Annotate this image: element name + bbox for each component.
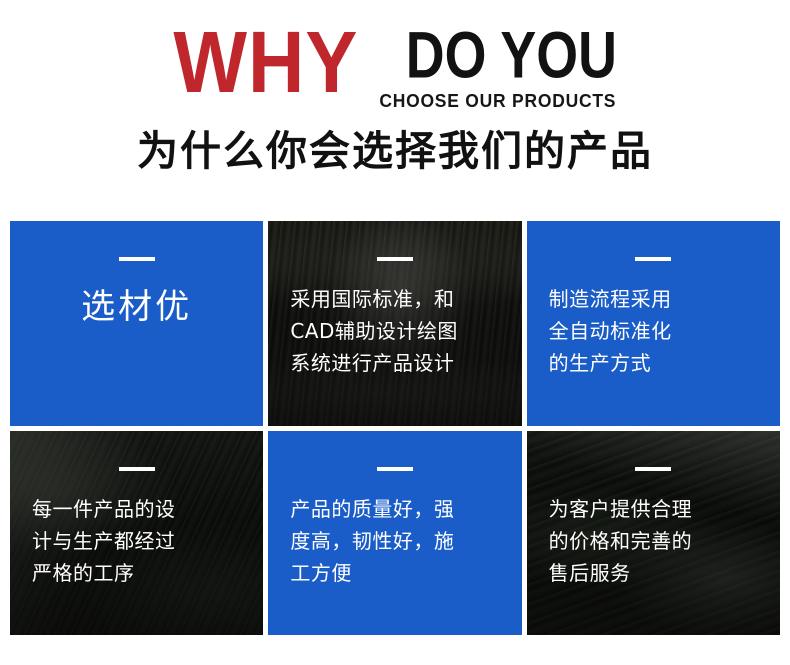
divider-dash-icon: [119, 467, 155, 471]
headline-do-you: DO YOU: [405, 22, 616, 88]
promo-banner: WHY DO YOU CHOOSE OUR PRODUCTS 为什么你会选择我们…: [0, 0, 790, 665]
feature-text: 为客户提供合理 的价格和完善的 售后服务: [527, 493, 780, 589]
feature-text: 每一件产品的设 计与生产都经过 严格的工序: [10, 493, 263, 589]
feature-text: 产品的质量好，强 度高，韧性好，施 工方便: [268, 493, 521, 589]
headline-do-you-block: DO YOU CHOOSE OUR PRODUCTS: [372, 18, 616, 111]
feature-text: 选材优: [10, 283, 263, 329]
feature-text: 采用国际标准，和 CAD辅助设计绘图 系统进行产品设计: [268, 283, 521, 379]
divider-dash-icon: [377, 257, 413, 261]
divider-dash-icon: [635, 257, 671, 261]
feature-cell-material-quality: 选材优: [10, 221, 263, 426]
headline-why: WHY: [173, 18, 358, 105]
divider-dash-icon: [377, 467, 413, 471]
feature-text: 制造流程采用 全自动标准化 的生产方式: [527, 283, 780, 379]
headline-subtitle: CHOOSE OUR PRODUCTS: [380, 91, 617, 111]
feature-cell-strict-process: 每一件产品的设 计与生产都经过 严格的工序: [10, 431, 263, 636]
headline-row: WHY DO YOU CHOOSE OUR PRODUCTS: [0, 18, 790, 108]
feature-grid: 选材优 采用国际标准，和 CAD辅助设计绘图 系统进行产品设计 制造流程采用 全…: [10, 221, 780, 635]
divider-dash-icon: [119, 257, 155, 261]
feature-cell-international-standard-cad: 采用国际标准，和 CAD辅助设计绘图 系统进行产品设计: [268, 221, 521, 426]
chinese-headline: 为什么你会选择我们的产品: [0, 126, 790, 176]
feature-cell-automated-production: 制造流程采用 全自动标准化 的生产方式: [527, 221, 780, 426]
divider-dash-icon: [635, 467, 671, 471]
feature-cell-product-strength: 产品的质量好，强 度高，韧性好，施 工方便: [268, 431, 521, 636]
header: WHY DO YOU CHOOSE OUR PRODUCTS 为什么你会选择我们…: [0, 0, 790, 221]
feature-cell-price-after-sales: 为客户提供合理 的价格和完善的 售后服务: [527, 431, 780, 636]
